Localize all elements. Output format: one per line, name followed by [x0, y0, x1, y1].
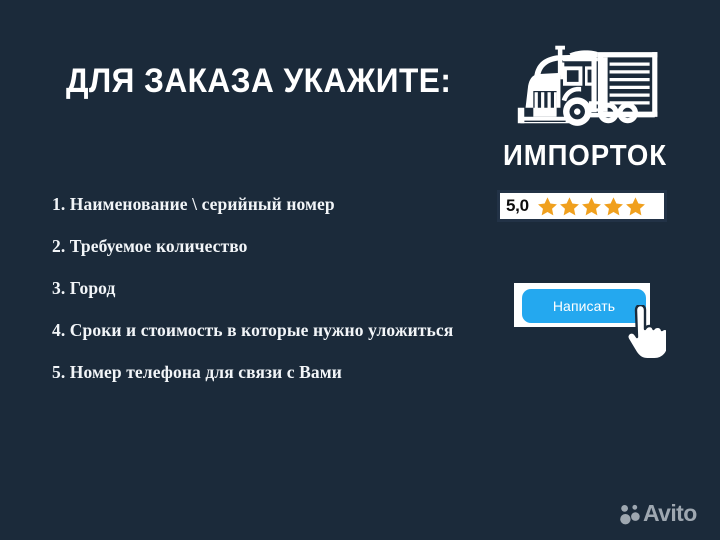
avito-watermark: Avito: [620, 502, 697, 525]
star-icon: [603, 196, 624, 217]
write-button[interactable]: Написать: [522, 289, 646, 323]
star-icon: [581, 196, 602, 217]
avito-dots-icon: [620, 503, 640, 525]
rating-value: 5,0: [506, 196, 529, 216]
star-icon: [559, 196, 580, 217]
brand-name: ИМПОРТОК: [495, 140, 676, 172]
brand-column: ИМПОРТОК 5,0: [490, 40, 680, 172]
truck-icon: [501, 40, 669, 138]
promo-poster: ДЛЯ ЗАКАЗА УКАЖИТЕ: 1. Наименование \ се…: [0, 0, 720, 540]
star-icon: [537, 196, 558, 217]
page-title: ДЛЯ ЗАКАЗА УКАЖИТЕ:: [66, 62, 451, 100]
list-item: 5. Номер телефона для связи с Вами: [52, 362, 480, 383]
avito-wordmark: Avito: [643, 502, 697, 525]
list-item: 2. Требуемое количество: [52, 236, 480, 257]
list-item: 4. Сроки и стоимость в которые нужно уло…: [52, 320, 480, 341]
order-requirements-list: 1. Наименование \ серийный номер 2. Треб…: [52, 194, 480, 383]
list-item: 1. Наименование \ серийный номер: [52, 194, 480, 215]
list-item: 3. Город: [52, 278, 480, 299]
rating-stars: [537, 196, 646, 217]
write-button-panel: Написать: [514, 283, 650, 327]
rating-badge: 5,0: [497, 190, 667, 222]
instructions-column: ДЛЯ ЗАКАЗА УКАЖИТЕ: 1. Наименование \ се…: [50, 62, 480, 100]
company-logo: ИМПОРТОК: [490, 40, 680, 172]
star-icon: [625, 196, 646, 217]
